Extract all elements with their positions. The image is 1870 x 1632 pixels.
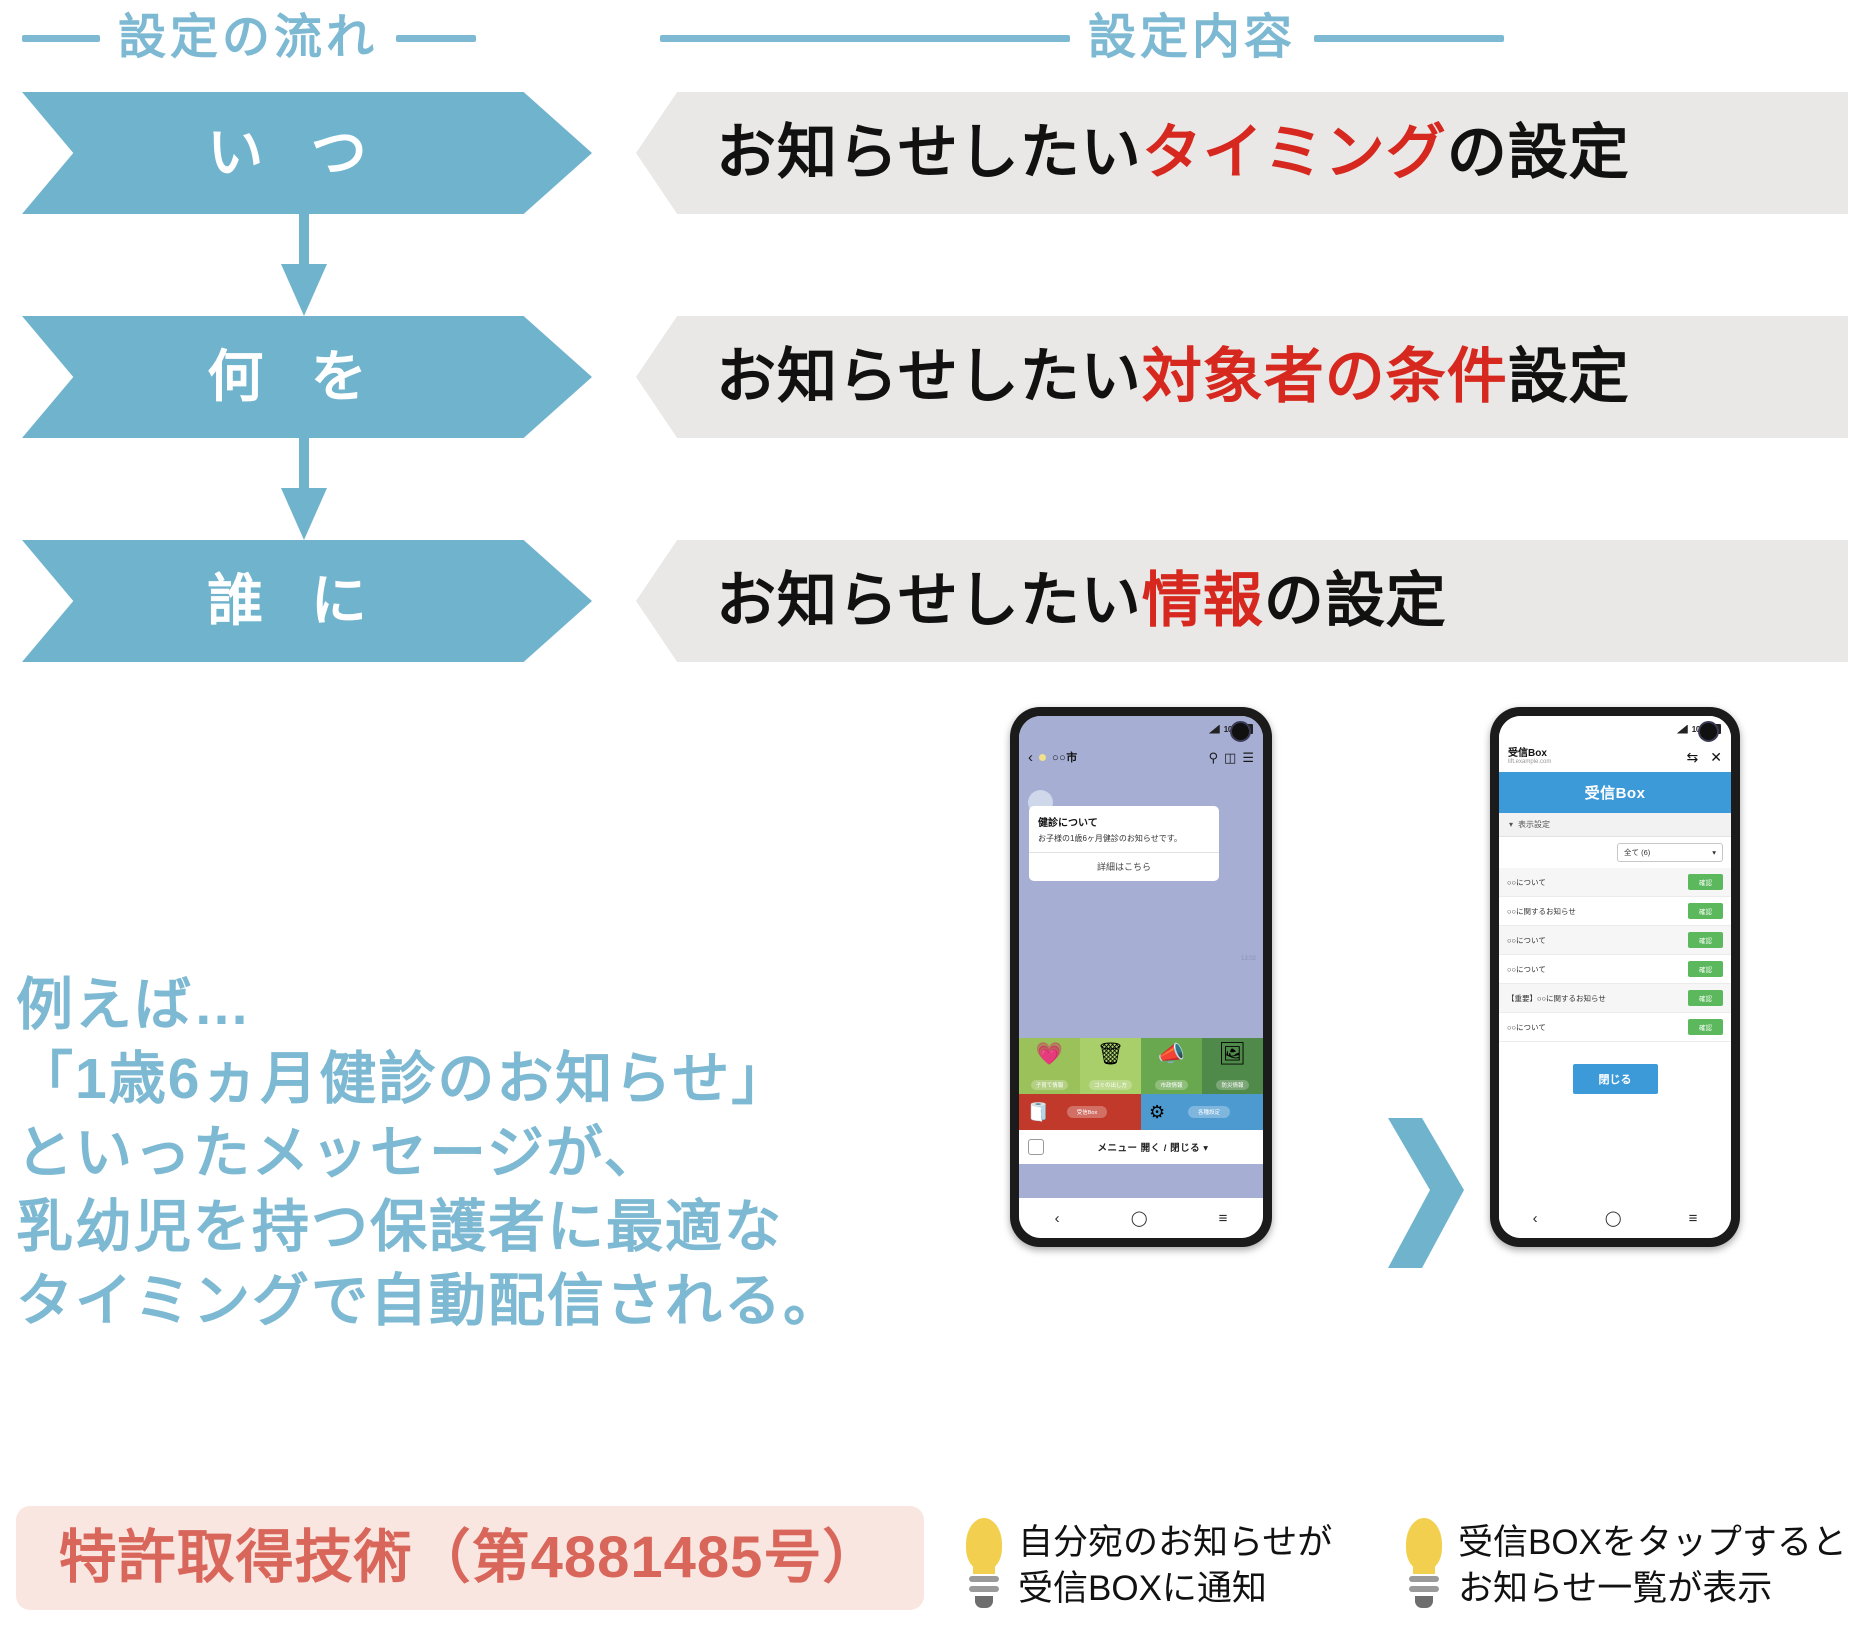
flow-diagram: い つ お知らせしたいタイミングの設定 何 を お知らせしたい対象者の条件設定 … [0, 92, 1870, 652]
bulb-thread [969, 1586, 999, 1592]
chevron-down-icon: ▾ [1509, 820, 1513, 829]
browser-url: lift.example.com [1508, 759, 1551, 766]
confirm-button[interactable]: 確認 [1688, 961, 1723, 977]
filter-row: 全て (6) ▾ [1499, 837, 1731, 868]
flow-content-when: お知らせしたいタイミングの設定 [636, 92, 1848, 214]
text-after: 設定 [1508, 343, 1630, 410]
confirm-button[interactable]: 確認 [1688, 1019, 1723, 1035]
phone2-browser-bar: 受信Box lift.example.com ⇆ ✕ [1499, 742, 1731, 772]
display-setting-label: 表示設定 [1518, 819, 1550, 830]
close-button-wrap: 閉じる [1499, 1042, 1731, 1094]
phone1-system-navbar: ‹ ◯ ≡ [1019, 1198, 1263, 1238]
header-left-title: 設定の流れ [118, 14, 378, 62]
phone-mockup-chat: 100% ‹ ○○市 ⚲ ◫ ☰ 健診について お子様の1歳6ヶ月健診のお知らせ… [1010, 707, 1272, 1247]
caption-line-2: 受信BOXに通知 [1018, 1566, 1332, 1612]
flow-content-what: お知らせしたい対象者の条件設定 [636, 316, 1848, 438]
trash-icon: 🗑 [1097, 1043, 1125, 1065]
document-icon: 🧻 [1027, 1103, 1049, 1121]
menu-tile-label: ゴミの出し方 [1089, 1080, 1132, 1090]
flow-row-who: 誰 に お知らせしたい情報の設定 [0, 540, 1870, 662]
rich-menu-row-2: 🧻 受信Box ⚙ 各種設定 [1019, 1094, 1263, 1130]
list-item[interactable]: ○○に関するお知らせ 確認 [1499, 897, 1731, 926]
caption-text: 受信BOXをタップすると お知らせ一覧が表示 [1458, 1520, 1847, 1612]
example-line-4: 乳幼児を持つ保護者に最適な [16, 1190, 946, 1264]
bulb-base [975, 1596, 993, 1608]
phone1-screen: 100% ‹ ○○市 ⚲ ◫ ☰ 健診について お子様の1歳6ヶ月健診のお知らせ… [1019, 716, 1263, 1238]
flow-row-what: 何 を お知らせしたい対象者の条件設定 [0, 316, 1870, 438]
down-arrow-icon [293, 214, 315, 314]
note-icon[interactable]: ◫ [1224, 751, 1236, 764]
list-item[interactable]: ○○について 確認 [1499, 868, 1731, 897]
account-dot-icon [1039, 754, 1046, 761]
text-before: お知らせしたい [716, 343, 1142, 410]
bulb-glass [1406, 1518, 1442, 1570]
chevron-right-icon [1382, 1118, 1470, 1268]
filter-select-value: 全て (6) [1624, 847, 1650, 858]
list-item[interactable]: ○○について 確認 [1499, 926, 1731, 955]
patent-badge-label: 特許取得技術（第4881485号） [59, 1529, 882, 1587]
phone2-body: 100% 受信Box lift.example.com ⇆ ✕ 受信Box ▾ … [1499, 716, 1731, 1238]
signal-icon [1677, 725, 1688, 734]
flow-step-what-label: 何 を [191, 349, 423, 405]
menu-tile-label: 各種設定 [1188, 1106, 1230, 1118]
caption-line-2: お知らせ一覧が表示 [1458, 1566, 1847, 1612]
header-rule-right-2 [1314, 35, 1504, 42]
chevron-down-icon: ▾ [1712, 848, 1716, 857]
example-line-3: といったメッセージが、 [16, 1116, 946, 1190]
menu-tile-inbox[interactable]: 🧻 受信Box [1019, 1094, 1141, 1130]
down-arrow-icon-2 [293, 438, 315, 538]
menu-tile-settings[interactable]: ⚙ 各種設定 [1141, 1094, 1263, 1130]
menu-tile-label: 市政情報 [1155, 1080, 1187, 1090]
phone1-rich-menu: 💗 子育て情報 🗑 ゴミの出し方 📣 市政情報 🖼 防災情報 [1019, 1038, 1263, 1164]
inbox-page-title: 受信Box [1499, 772, 1731, 813]
confirm-button[interactable]: 確認 [1688, 903, 1723, 919]
display-setting-row[interactable]: ▾ 表示設定 [1499, 813, 1731, 837]
text-before: お知らせしたい [716, 119, 1142, 186]
phone1-statusbar: 100% [1019, 716, 1263, 742]
phone1-navbar: ‹ ○○市 ⚲ ◫ ☰ [1019, 742, 1263, 772]
filter-select[interactable]: 全て (6) ▾ [1617, 843, 1723, 862]
inbox-list: ○○について 確認 ○○に関するお知らせ 確認 ○○について 確認 ○○について… [1499, 868, 1731, 1042]
system-back-icon[interactable]: ‹ [1533, 1211, 1538, 1226]
bulb-thread [1409, 1586, 1439, 1592]
text-highlight: 情報 [1142, 567, 1264, 634]
text-highlight: タイミング [1142, 119, 1447, 186]
menu-tile-garbage[interactable]: 🗑 ゴミの出し方 [1080, 1038, 1141, 1094]
arrow-stem [299, 214, 309, 272]
phone1-menubar[interactable]: メニュー 開く / 閉じる ▾ [1019, 1130, 1263, 1164]
phone2-statusbar: 100% [1499, 716, 1731, 742]
header-left: 設定の流れ [22, 14, 476, 62]
caption-line-1: 自分宛のお知らせが [1018, 1520, 1332, 1566]
system-home-icon[interactable]: ◯ [1131, 1211, 1148, 1226]
example-text-block: 例えば… 「1歳6ヵ月健診のお知らせ」 といったメッセージが、 乳幼児を持つ保護… [16, 968, 946, 1338]
header-rule-right [396, 35, 476, 42]
menu-tile-city-news[interactable]: 📣 市政情報 [1141, 1038, 1202, 1094]
message-timestamp: 13:02 [1241, 956, 1256, 962]
patent-badge: 特許取得技術（第4881485号） [16, 1506, 924, 1610]
caption-notification: 自分宛のお知らせが 受信BOXに通知 [962, 1518, 1332, 1614]
list-item[interactable]: ○○について 確認 [1499, 1013, 1731, 1042]
message-title: 健診について [1038, 814, 1210, 829]
list-item-title: 【重要】○○に関するお知らせ [1507, 993, 1606, 1004]
menu-tile-disaster[interactable]: 🖼 防災情報 [1202, 1038, 1263, 1094]
bulb-thread [969, 1576, 999, 1582]
list-item[interactable]: ○○について 確認 [1499, 955, 1731, 984]
message-bubble: 健診について お子様の1歳6ヶ月健診のお知らせです。 詳細はこちら [1029, 806, 1219, 881]
system-recent-icon[interactable]: ≡ [1689, 1211, 1698, 1226]
flow-content-who: お知らせしたい情報の設定 [636, 540, 1848, 662]
megaphone-icon: 📣 [1158, 1043, 1185, 1065]
header-right: 設定内容 [660, 14, 1504, 62]
system-recent-icon[interactable]: ≡ [1219, 1211, 1228, 1226]
flow-content-when-text: お知らせしたいタイミングの設定 [636, 123, 1630, 183]
arrow-stem [299, 438, 309, 496]
list-item-title: ○○について [1507, 964, 1546, 975]
back-icon[interactable]: ‹ [1028, 750, 1033, 765]
share-icon[interactable]: ⇆ [1687, 750, 1699, 764]
list-item-title: ○○に関するお知らせ [1507, 906, 1576, 917]
lightbulb-icon [962, 1518, 1006, 1614]
hamburger-icon[interactable]: ☰ [1242, 751, 1254, 764]
text-after: の設定 [1447, 119, 1630, 186]
map-pin-icon: 🖼 [1219, 1043, 1247, 1065]
flow-step-when: い つ [22, 92, 592, 214]
caption-text: 自分宛のお知らせが 受信BOXに通知 [1018, 1520, 1332, 1612]
heart-hands-icon: 💗 [1036, 1043, 1063, 1065]
bulb-neck [973, 1564, 995, 1574]
phone2-system-navbar: ‹ ◯ ≡ [1499, 1198, 1731, 1238]
confirm-button[interactable]: 確認 [1688, 932, 1723, 948]
flow-step-who-label: 誰 に [191, 573, 423, 629]
rich-menu-row-1: 💗 子育て情報 🗑 ゴミの出し方 📣 市政情報 🖼 防災情報 [1019, 1038, 1263, 1094]
example-line-5: タイミングで自動配信される。 [16, 1264, 946, 1338]
system-back-icon[interactable]: ‹ [1055, 1211, 1060, 1226]
bulb-base [1415, 1596, 1433, 1608]
caption-line-1: 受信BOXをタップすると [1458, 1520, 1847, 1566]
search-icon[interactable]: ⚲ [1209, 751, 1219, 764]
camera-punchhole [1698, 721, 1719, 742]
flow-step-what: 何 を [22, 316, 592, 438]
gear-icon: ⚙ [1149, 1103, 1165, 1121]
phone-mockup-inbox: 100% 受信Box lift.example.com ⇆ ✕ 受信Box ▾ … [1490, 707, 1740, 1247]
bulb-thread [1409, 1576, 1439, 1582]
caption-inbox-tap: 受信BOXをタップすると お知らせ一覧が表示 [1402, 1518, 1847, 1614]
message-detail-link[interactable]: 詳細はこちら [1038, 853, 1210, 881]
menu-tile-childcare[interactable]: 💗 子育て情報 [1019, 1038, 1080, 1094]
list-item[interactable]: 【重要】○○に関するお知らせ 確認 [1499, 984, 1731, 1013]
flow-step-who: 誰 に [22, 540, 592, 662]
message-body: お子様の1歳6ヶ月健診のお知らせです。 [1038, 834, 1210, 852]
arrow-head [281, 488, 327, 540]
bulb-neck [1413, 1564, 1435, 1574]
flow-content-what-text: お知らせしたい対象者の条件設定 [636, 347, 1630, 407]
text-after: の設定 [1264, 567, 1447, 634]
close-button[interactable]: 閉じる [1573, 1064, 1658, 1094]
example-line-1: 例えば… [16, 968, 946, 1042]
close-icon[interactable]: ✕ [1710, 750, 1722, 764]
list-item-title: ○○について [1507, 935, 1546, 946]
header-rule-left-2 [660, 35, 1070, 42]
confirm-button[interactable]: 確認 [1688, 990, 1723, 1006]
lightbulb-icon [1402, 1518, 1446, 1614]
example-line-2: 「1歳6ヵ月健診のお知らせ」 [16, 1042, 946, 1116]
text-before: お知らせしたい [716, 567, 1142, 634]
arrow-head [281, 264, 327, 316]
menu-tile-label: 子育て情報 [1031, 1080, 1069, 1090]
header-rule-left [22, 35, 100, 42]
menu-tile-label: 受信Box [1067, 1106, 1107, 1118]
header-right-title: 設定内容 [1088, 14, 1296, 62]
flow-content-who-text: お知らせしたい情報の設定 [636, 571, 1447, 631]
system-home-icon[interactable]: ◯ [1605, 1211, 1622, 1226]
caption-row: 自分宛のお知らせが 受信BOXに通知 受信BOXをタップすると お知らせ一覧が表… [962, 1518, 1870, 1630]
signal-icon [1209, 725, 1220, 734]
phone1-body: 100% ‹ ○○市 ⚲ ◫ ☰ 健診について お子様の1歳6ヶ月健診のお知らせ… [1019, 716, 1263, 1238]
phone2-screen: 100% 受信Box lift.example.com ⇆ ✕ 受信Box ▾ … [1499, 716, 1731, 1238]
list-item-title: ○○について [1507, 1022, 1546, 1033]
menu-tile-label: 防災情報 [1216, 1080, 1248, 1090]
menubar-label: メニュー 開く / 閉じる ▾ [1052, 1140, 1254, 1154]
confirm-button[interactable]: 確認 [1688, 874, 1723, 890]
text-highlight: 対象者の条件 [1142, 343, 1508, 410]
flow-step-when-label: い つ [191, 125, 423, 181]
account-name-label: ○○市 [1052, 749, 1078, 765]
keyboard-icon[interactable] [1028, 1139, 1044, 1155]
section-headers: 設定の流れ 設定内容 [0, 0, 1870, 86]
flow-row-when: い つ お知らせしたいタイミングの設定 [0, 92, 1870, 214]
camera-punchhole [1230, 721, 1251, 742]
browser-titles: 受信Box lift.example.com [1508, 748, 1551, 766]
list-item-title: ○○について [1507, 877, 1546, 888]
bulb-glass [966, 1518, 1002, 1570]
browser-title: 受信Box [1508, 748, 1551, 759]
